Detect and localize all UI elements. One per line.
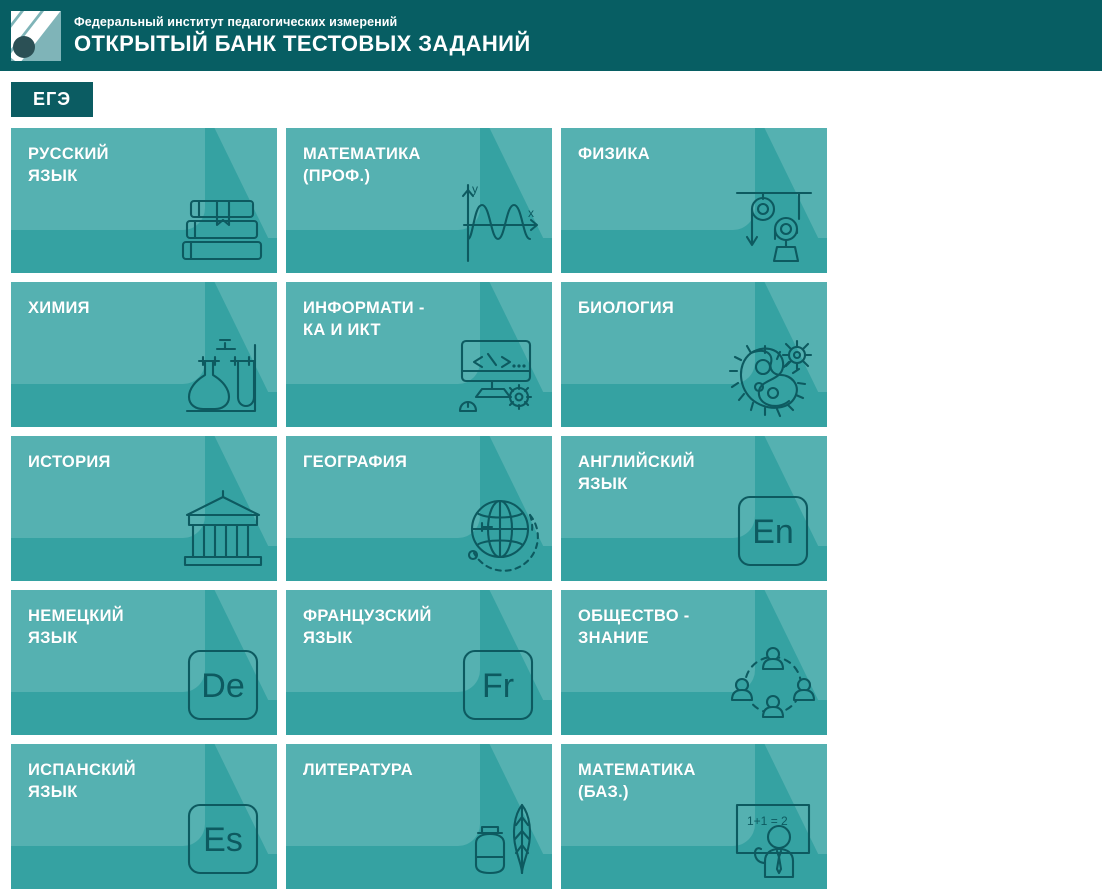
pulley-weight-icon: [727, 177, 819, 269]
subject-card-title: ФИЗИКА: [578, 144, 650, 166]
subject-card-title: ЛИТЕРАТУРА: [303, 760, 413, 782]
subject-card-history[interactable]: ИСТОРИЯ: [11, 436, 277, 581]
subject-card-title: ФРАНЦУЗСКИЙ ЯЗЫК: [303, 606, 432, 650]
lang-letters: En: [752, 513, 794, 551]
subject-card-title: МАТЕМАТИКА (ПРОФ.): [303, 144, 421, 188]
subject-card-social-studies[interactable]: ОБЩЕСТВО - ЗНАНИЕ: [561, 590, 827, 735]
teacher-blackboard-icon: 1+1 = 2: [727, 793, 819, 885]
subject-card-english[interactable]: АНГЛИЙСКИЙ ЯЗЫК En: [561, 436, 827, 581]
subject-card-title: ГЕОГРАФИЯ: [303, 452, 407, 474]
subject-card-title: ИСПАНСКИЙ ЯЗЫК: [28, 760, 136, 804]
subject-card-informatics[interactable]: ИНФОРМАТИ - КА И ИКТ: [286, 282, 552, 427]
lang-letters: Es: [203, 821, 243, 859]
svg-text:x: x: [528, 206, 534, 220]
microbes-icon: [727, 331, 819, 423]
sine-graph-icon: y x: [452, 177, 544, 269]
people-circle-icon: [727, 639, 819, 731]
site-header: Федеральный институт педагогических изме…: [0, 0, 1102, 71]
lang-letters: De: [201, 667, 244, 705]
tab-bar: ЕГЭ: [0, 71, 1102, 128]
subject-card-chemistry[interactable]: ХИМИЯ: [11, 282, 277, 427]
lang-letters: Fr: [482, 667, 514, 705]
subject-card-literature[interactable]: ЛИТЕРАТУРА: [286, 744, 552, 889]
inkwell-quill-icon: [452, 793, 544, 885]
books-icon: [177, 177, 269, 269]
subject-card-title: МАТЕМАТИКА (БАЗ.): [578, 760, 696, 804]
page-title: ОТКРЫТЫЙ БАНК ТЕСТОВЫХ ЗАДАНИЙ: [74, 32, 531, 55]
svg-text:y: y: [472, 182, 478, 196]
subject-card-math-profile[interactable]: МАТЕМАТИКА (ПРОФ.) y x: [286, 128, 552, 273]
globe-orbit-icon: [452, 485, 544, 577]
fipi-logo-icon: [8, 8, 64, 64]
greek-temple-icon: [177, 485, 269, 577]
subject-card-geography[interactable]: ГЕОГРАФИЯ: [286, 436, 552, 581]
tab-ege[interactable]: ЕГЭ: [11, 82, 93, 117]
subject-card-biology[interactable]: БИОЛОГИЯ: [561, 282, 827, 427]
subject-grid: РУССКИЙ ЯЗЫК МАТЕМАТИКА (ПРОФ.): [0, 128, 1102, 889]
institute-name: Федеральный институт педагогических изме…: [74, 16, 531, 29]
subject-card-title: ИСТОРИЯ: [28, 452, 111, 474]
subject-card-title: РУССКИЙ ЯЗЫК: [28, 144, 109, 188]
subject-card-russian[interactable]: РУССКИЙ ЯЗЫК: [11, 128, 277, 273]
subject-card-title: АНГЛИЙСКИЙ ЯЗЫК: [578, 452, 695, 496]
subject-card-math-basic[interactable]: МАТЕМАТИКА (БАЗ.) 1+1 = 2: [561, 744, 827, 889]
subject-card-title: ХИМИЯ: [28, 298, 90, 320]
subject-card-physics[interactable]: ФИЗИКА: [561, 128, 827, 273]
subject-card-spanish[interactable]: ИСПАНСКИЙ ЯЗЫК Es: [11, 744, 277, 889]
header-text-block: Федеральный институт педагогических изме…: [74, 16, 531, 55]
subject-card-title: ОБЩЕСТВО - ЗНАНИЕ: [578, 606, 690, 650]
subject-card-title: БИОЛОГИЯ: [578, 298, 674, 320]
subject-card-french[interactable]: ФРАНЦУЗСКИЙ ЯЗЫК Fr: [286, 590, 552, 735]
lang-en-icon: En: [727, 485, 819, 577]
lab-flask-stand-icon: [177, 331, 269, 423]
subject-card-german[interactable]: НЕМЕЦКИЙ ЯЗЫК De: [11, 590, 277, 735]
subject-card-title: ИНФОРМАТИ - КА И ИКТ: [303, 298, 425, 342]
lang-es-icon: Es: [177, 793, 269, 885]
lang-de-icon: De: [177, 639, 269, 731]
subject-card-title: НЕМЕЦКИЙ ЯЗЫК: [28, 606, 124, 650]
lang-fr-icon: Fr: [452, 639, 544, 731]
monitor-code-gear-icon: [452, 331, 544, 423]
